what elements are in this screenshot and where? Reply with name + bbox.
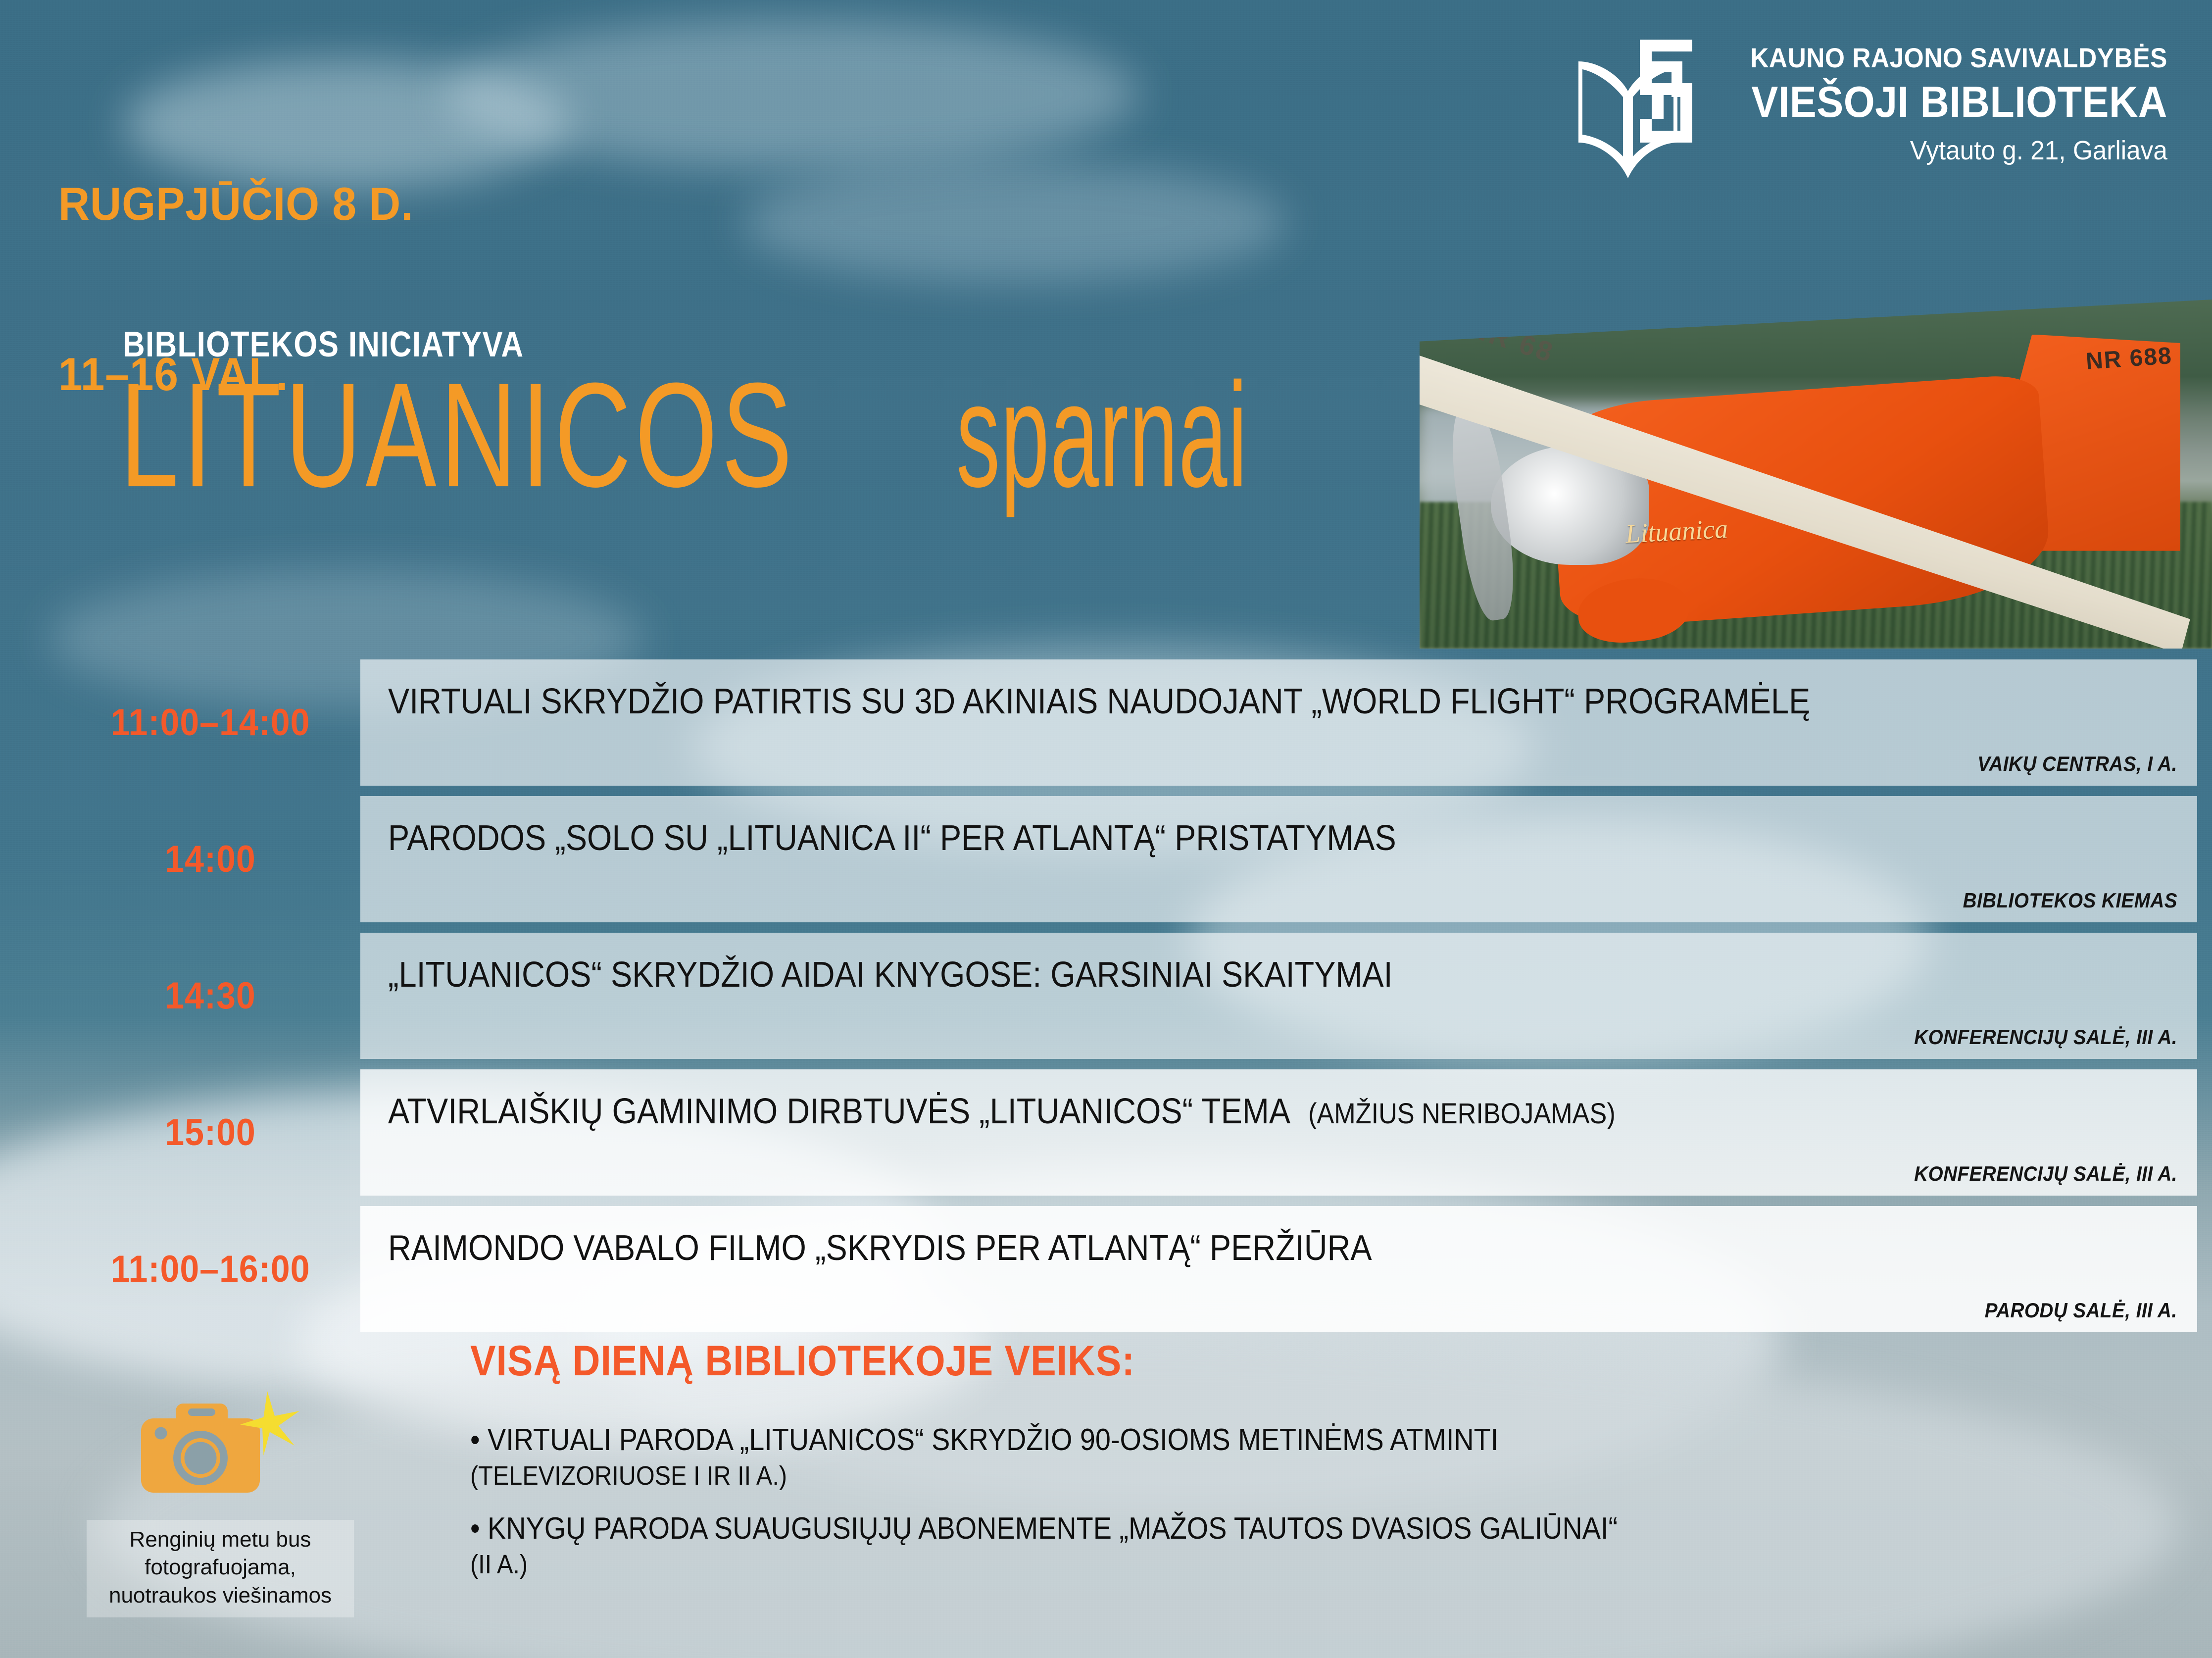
all-day-item-text: • VIRTUALI PARODA „LITUANICOS“ SKRYDŽIO … bbox=[470, 1422, 1896, 1457]
org-name-line1: KAUNO RAJONO SAVIVALDYBĖS bbox=[1750, 42, 2167, 74]
schedule-bar: VIRTUALI SKRYDŽIO PATIRTIS SU 3D AKINIAI… bbox=[360, 659, 2197, 786]
schedule-bar: „LITUANICOS“ SKRYDŽIO AIDAI KNYGOSE: GAR… bbox=[360, 933, 2197, 1059]
schedule-time: 11:00–14:00 bbox=[81, 659, 340, 786]
schedule-location: VAIKŲ CENTRAS, I A. bbox=[1977, 752, 2177, 776]
schedule-list: 11:00–14:00 VIRTUALI SKRYDŽIO PATIRTIS S… bbox=[0, 659, 2212, 1343]
schedule-bar: RAIMONDO VABALO FILMO „SKRYDIS PER ATLAN… bbox=[360, 1206, 2197, 1332]
photo-consent-line2: fotografuojama, bbox=[92, 1554, 349, 1581]
schedule-title: ATVIRLAIŠKIŲ GAMINIMO DIRBTUVĖS „LITUANI… bbox=[388, 1091, 1616, 1132]
title-sub-word: sparnai bbox=[956, 360, 1248, 509]
all-day-items: • VIRTUALI PARODA „LITUANICOS“ SKRYDŽIO … bbox=[470, 1422, 2054, 1580]
camera-icon bbox=[139, 1391, 302, 1515]
photo-consent-text: Renginių metu bus fotografuojama, nuotra… bbox=[87, 1520, 354, 1617]
schedule-time: 11:00–16:00 bbox=[81, 1206, 340, 1332]
schedule-row[interactable]: 15:00 ATVIRLAIŠKIŲ GAMINIMO DIRBTUVĖS „L… bbox=[0, 1069, 2212, 1196]
schedule-location: BIBLIOTEKOS KIEMAS bbox=[1963, 889, 2177, 912]
all-day-heading: VISĄ DIENĄ BIBLIOTEKOJE VEIKS: bbox=[470, 1337, 1896, 1386]
schedule-title-note: (AMŽIUS NERIBOJAMAS) bbox=[1308, 1098, 1616, 1130]
event-date: RUGPJŪČIO 8 D. bbox=[58, 176, 413, 233]
schedule-title: PARODOS „SOLO SU „LITUANICA II“ PER ATLA… bbox=[388, 818, 1396, 858]
airplane-tail-registration: NR 688 bbox=[2085, 342, 2173, 375]
schedule-bar: ATVIRLAIŠKIŲ GAMINIMO DIRBTUVĖS „LITUANI… bbox=[360, 1069, 2197, 1196]
schedule-title: „LITUANICOS“ SKRYDŽIO AIDAI KNYGOSE: GAR… bbox=[388, 955, 1393, 995]
schedule-title-text: ATVIRLAIŠKIŲ GAMINIMO DIRBTUVĖS „LITUANI… bbox=[388, 1092, 1290, 1131]
airplane-script-name: Lituanica bbox=[1625, 513, 1729, 550]
schedule-title: VIRTUALI SKRYDŽIO PATIRTIS SU 3D AKINIAI… bbox=[388, 681, 1810, 722]
organisation-text: KAUNO RAJONO SAVIVALDYBĖS VIEŠOJI BIBLIO… bbox=[1714, 35, 2167, 166]
all-day-item-note: (II A.) bbox=[470, 1549, 1896, 1580]
poster-canvas: RUGPJŪČIO 8 D. 11–16 VAL. KAUNO RAJONO S… bbox=[0, 0, 2212, 1658]
schedule-location: KONFERENCIJŲ SALĖ, III A. bbox=[1914, 1025, 2177, 1049]
schedule-title: RAIMONDO VABALO FILMO „SKRYDIS PER ATLAN… bbox=[388, 1228, 1372, 1268]
schedule-location: PARODŲ SALĖ, III A. bbox=[1985, 1299, 2177, 1322]
schedule-row[interactable]: 14:00 PARODOS „SOLO SU „LITUANICA II“ PE… bbox=[0, 796, 2212, 922]
all-day-section: VISĄ DIENĄ BIBLIOTEKOJE VEIKS: • VIRTUAL… bbox=[470, 1337, 2054, 1600]
photo-consent-notice: Renginių metu bus fotografuojama, nuotra… bbox=[87, 1391, 354, 1617]
schedule-row[interactable]: 14:30 „LITUANICOS“ SKRYDŽIO AIDAI KNYGOS… bbox=[0, 933, 2212, 1059]
schedule-time: 14:30 bbox=[81, 933, 340, 1059]
schedule-row[interactable]: 11:00–14:00 VIRTUALI SKRYDŽIO PATIRTIS S… bbox=[0, 659, 2212, 786]
org-address: Vytauto g. 21, Garliava bbox=[1737, 135, 2167, 166]
all-day-item: • KNYGŲ PARODA SUAUGUSIŲJŲ ABONEMENTE „M… bbox=[470, 1511, 2054, 1580]
all-day-item-note: (TELEVIZORIUOSE I IR II A.) bbox=[470, 1460, 1896, 1491]
photo-consent-line1: Renginių metu bus bbox=[92, 1526, 349, 1554]
schedule-location: KONFERENCIJŲ SALĖ, III A. bbox=[1914, 1162, 2177, 1186]
org-name-line2: VIEŠOJI BIBLIOTEKA bbox=[1750, 77, 2167, 127]
schedule-row[interactable]: 11:00–16:00 RAIMONDO VABALO FILMO „SKRYD… bbox=[0, 1206, 2212, 1332]
all-day-item-text: • KNYGŲ PARODA SUAUGUSIŲJŲ ABONEMENTE „M… bbox=[470, 1511, 1896, 1546]
open-book-logo-icon bbox=[1578, 40, 1692, 188]
library-logo-block: KAUNO RAJONO SAVIVALDYBĖS VIEŠOJI BIBLIO… bbox=[1578, 35, 2167, 188]
title-main-word: LITUANICOS bbox=[120, 360, 796, 509]
lituanica-airplane-photo: Lituanica NR 688 NR 68 bbox=[1420, 300, 2212, 649]
poster-title: LITUANICOSsparnai bbox=[120, 376, 1398, 509]
photo-consent-line3: nuotraukos viešinamos bbox=[92, 1582, 349, 1609]
schedule-time: 14:00 bbox=[81, 796, 340, 922]
schedule-bar: PARODOS „SOLO SU „LITUANICA II“ PER ATLA… bbox=[360, 796, 2197, 922]
all-day-item: • VIRTUALI PARODA „LITUANICOS“ SKRYDŽIO … bbox=[470, 1422, 2054, 1491]
schedule-time: 15:00 bbox=[81, 1069, 340, 1196]
